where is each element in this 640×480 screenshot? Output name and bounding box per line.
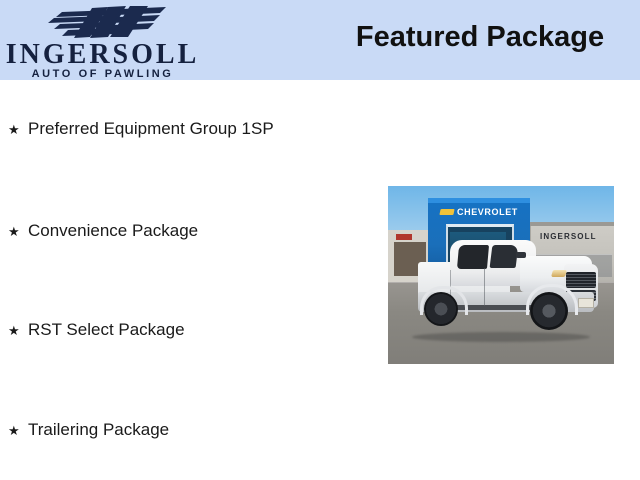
dealer-subwordmark: AUTO OF PAWLING [0,68,205,80]
truck-rear-wheel [424,292,458,326]
truck-rear-window [457,245,489,269]
list-item: ★ Trailering Package [8,419,169,442]
truck-license-plate [578,298,594,308]
photo-showroom-trim [428,198,530,203]
truck-front-window [490,245,519,268]
featured-package-slide: INGERSOLL AUTO OF PAWLING Featured Packa… [0,0,640,480]
dealer-logo: INGERSOLL AUTO OF PAWLING [0,2,210,80]
feature-label: RST Select Package [28,319,185,341]
vehicle-photo: CHEVROLET INGERSOLL [388,186,614,364]
ingersoll-winged-emblem-icon [42,6,170,40]
star-bullet-icon: ★ [8,320,28,342]
feature-label: Convenience Package [28,220,198,242]
truck-front-wheel [530,292,568,330]
list-item: ★ Preferred Equipment Group 1SP [8,118,274,141]
feature-label: Trailering Package [28,419,169,441]
photo-building-sign: INGERSOLL [540,232,597,241]
truck-side-mirror [516,252,526,258]
page-title: Featured Package [330,18,630,56]
photo-dealer-sign: CHEVROLET [457,207,518,217]
truck-shadow [412,332,590,342]
truck-grille-upper [566,272,596,288]
dealer-wordmark: INGERSOLL [0,40,205,70]
star-bullet-icon: ★ [8,119,28,141]
star-bullet-icon: ★ [8,420,28,442]
truck-headlight [551,270,567,277]
photo-left-red-sign [396,234,412,240]
photo-right-building-roof [530,222,614,226]
chevrolet-bowtie-icon [439,209,454,215]
list-item: ★ Convenience Package [8,220,198,243]
feature-label: Preferred Equipment Group 1SP [28,118,274,140]
truck-door-seam [484,268,485,306]
header-band: INGERSOLL AUTO OF PAWLING Featured Packa… [0,0,640,80]
list-item: ★ RST Select Package [8,319,185,342]
feature-list: ★ Preferred Equipment Group 1SP ★ Conven… [0,80,375,480]
star-bullet-icon: ★ [8,221,28,243]
